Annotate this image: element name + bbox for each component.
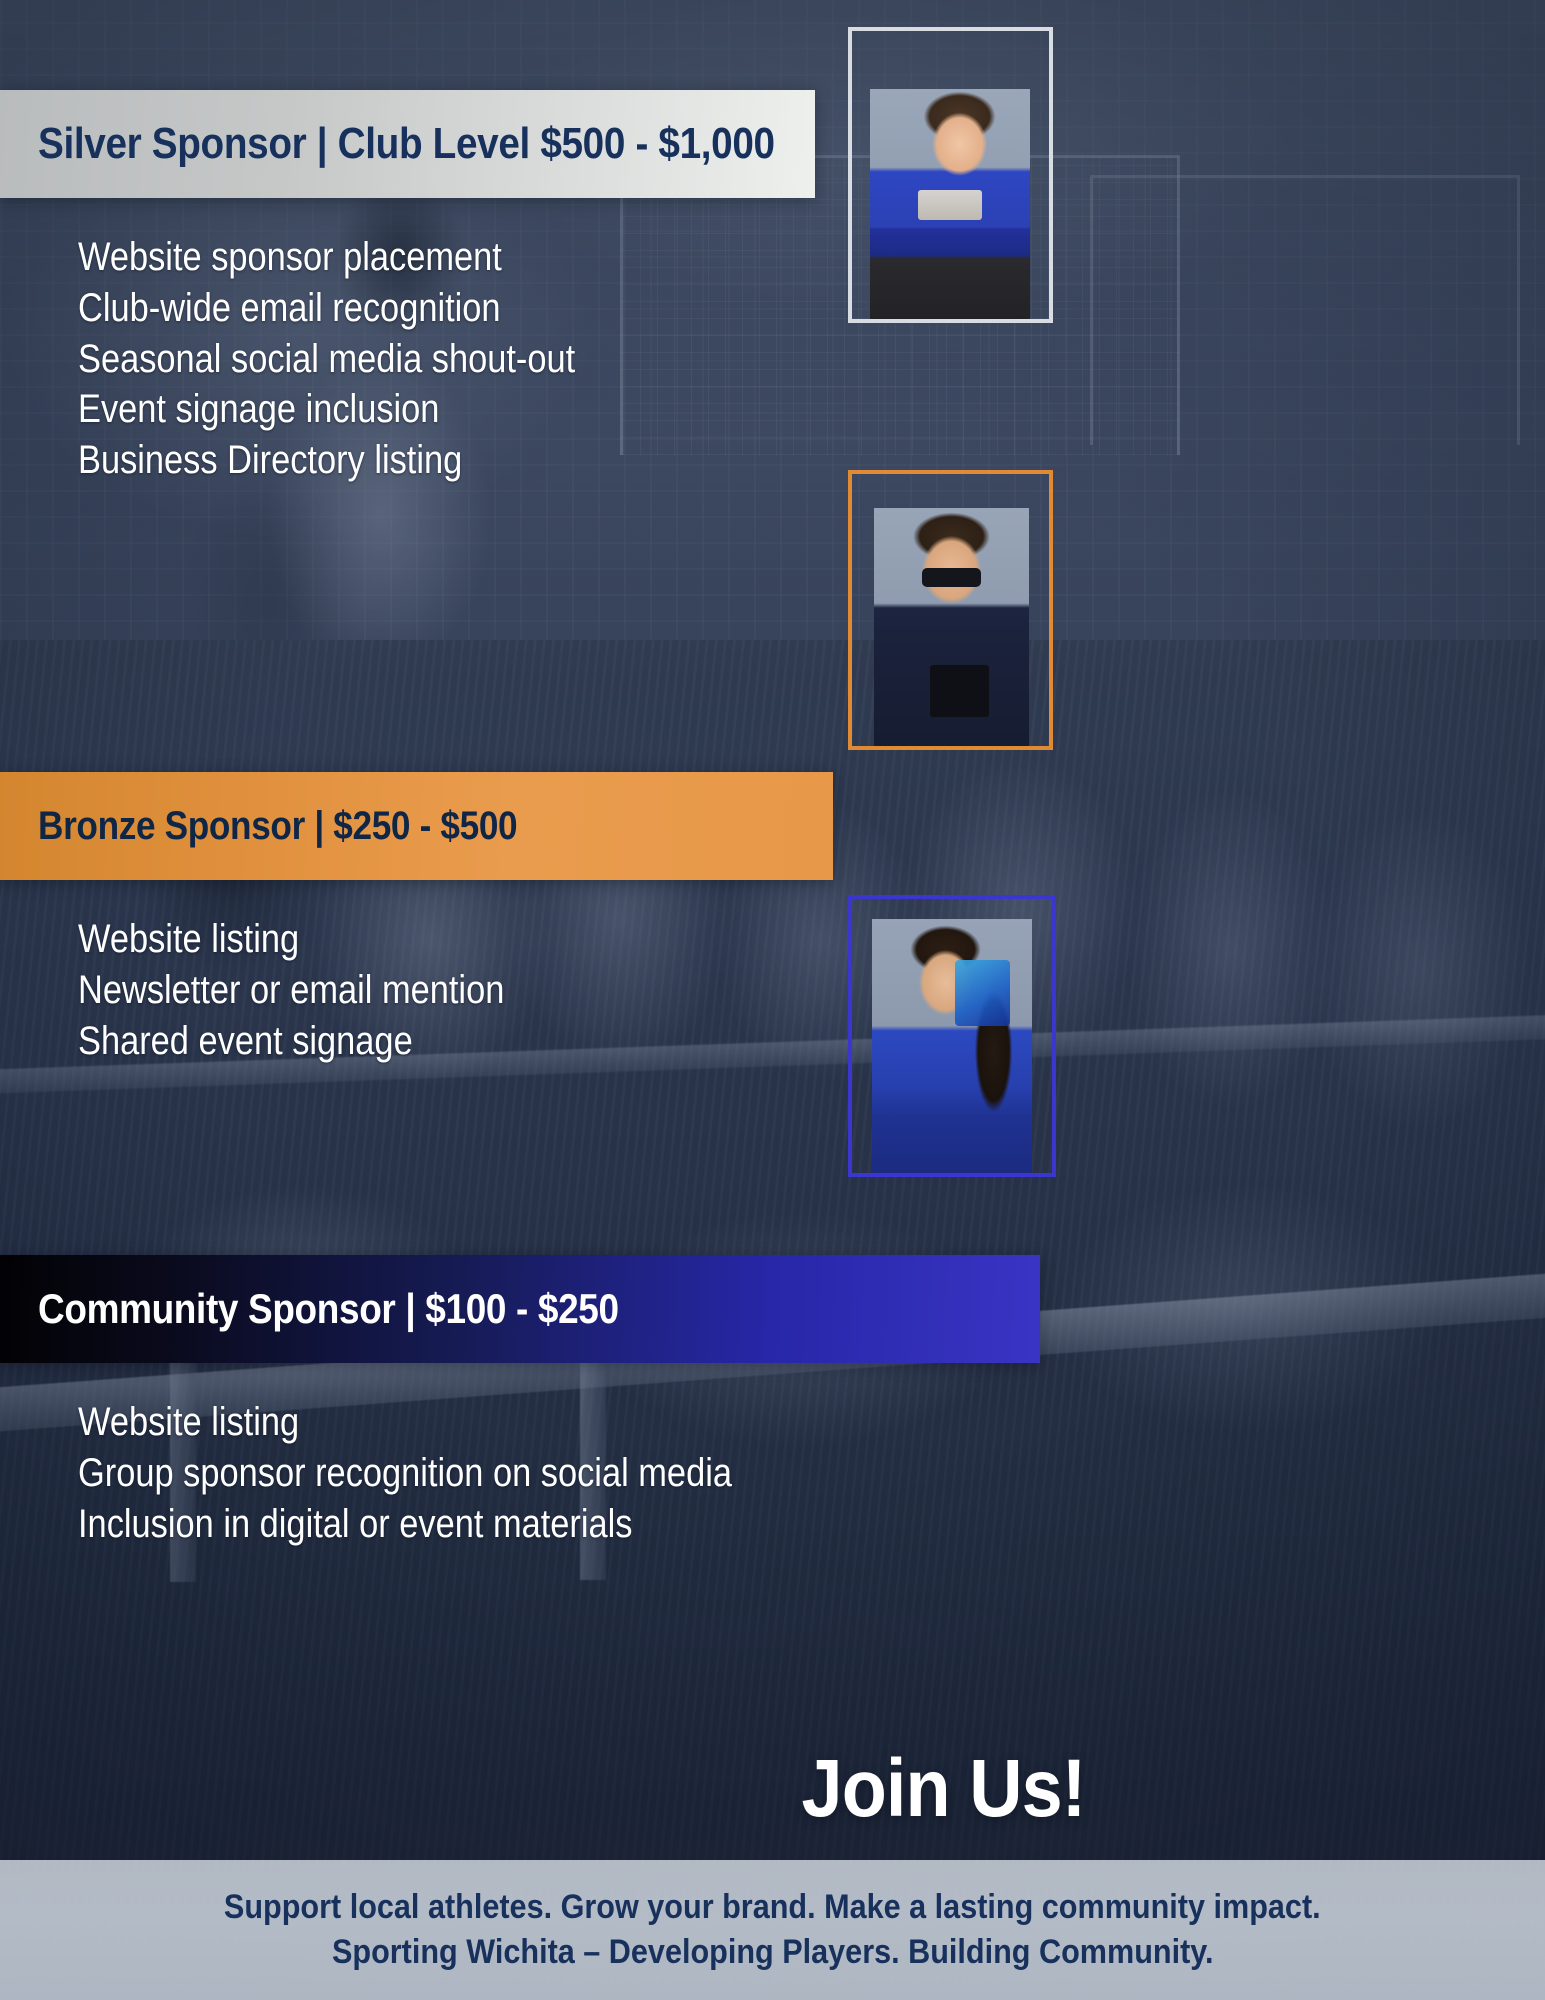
footer-tagline-line-1: Support local athletes. Grow your brand.… bbox=[224, 1888, 1321, 1927]
tier-banner-silver: Silver Sponsor | Club Level $500 - $1,00… bbox=[0, 90, 815, 198]
photo-frame-bronze bbox=[848, 470, 1053, 750]
flyer-content: Silver Sponsor | Club Level $500 - $1,00… bbox=[0, 0, 1545, 2000]
footer-tagline-line-2: Sporting Wichita – Developing Players. B… bbox=[332, 1933, 1214, 1972]
tier-title-silver: Silver Sponsor | Club Level $500 - $1,00… bbox=[38, 119, 775, 169]
benefit-list-bronze: Website listing Newsletter or email ment… bbox=[0, 880, 1545, 1066]
benefit-item: Website listing bbox=[78, 914, 1340, 965]
benefit-item: Website listing bbox=[78, 1397, 1340, 1448]
tier-title-bronze: Bronze Sponsor | $250 - $500 bbox=[38, 804, 517, 849]
benefit-item: Event signage inclusion bbox=[78, 384, 1340, 435]
sponsorship-flyer: Silver Sponsor | Club Level $500 - $1,00… bbox=[0, 0, 1545, 2000]
tier-community: Community Sponsor | $100 - $250 Website … bbox=[0, 1255, 1545, 1549]
tier-bronze: Bronze Sponsor | $250 - $500 Website lis… bbox=[0, 772, 1545, 1066]
benefit-item: Shared event signage bbox=[78, 1016, 1340, 1067]
benefit-item: Club-wide email recognition bbox=[78, 283, 1340, 334]
benefit-list-community: Website listing Group sponsor recognitio… bbox=[0, 1363, 1545, 1549]
footer-bar: Support local athletes. Grow your brand.… bbox=[0, 1860, 1545, 2000]
benefit-item: Inclusion in digital or event materials bbox=[78, 1499, 1340, 1550]
benefit-item: Newsletter or email mention bbox=[78, 965, 1340, 1016]
benefit-list-silver: Website sponsor placement Club-wide emai… bbox=[0, 198, 1545, 486]
benefit-item: Website sponsor placement bbox=[78, 232, 1340, 283]
benefit-item: Business Directory listing bbox=[78, 435, 1340, 486]
tier-silver: Silver Sponsor | Club Level $500 - $1,00… bbox=[0, 90, 1545, 486]
benefit-item: Group sponsor recognition on social medi… bbox=[78, 1448, 1340, 1499]
benefit-item: Seasonal social media shout-out bbox=[78, 334, 1340, 385]
tier-title-community: Community Sponsor | $100 - $250 bbox=[38, 1285, 619, 1333]
call-to-action-join-us: Join Us! bbox=[801, 1742, 1085, 1836]
tier-banner-community: Community Sponsor | $100 - $250 bbox=[0, 1255, 1040, 1363]
tier-banner-bronze: Bronze Sponsor | $250 - $500 bbox=[0, 772, 833, 880]
photo-card-bronze bbox=[848, 470, 1053, 750]
